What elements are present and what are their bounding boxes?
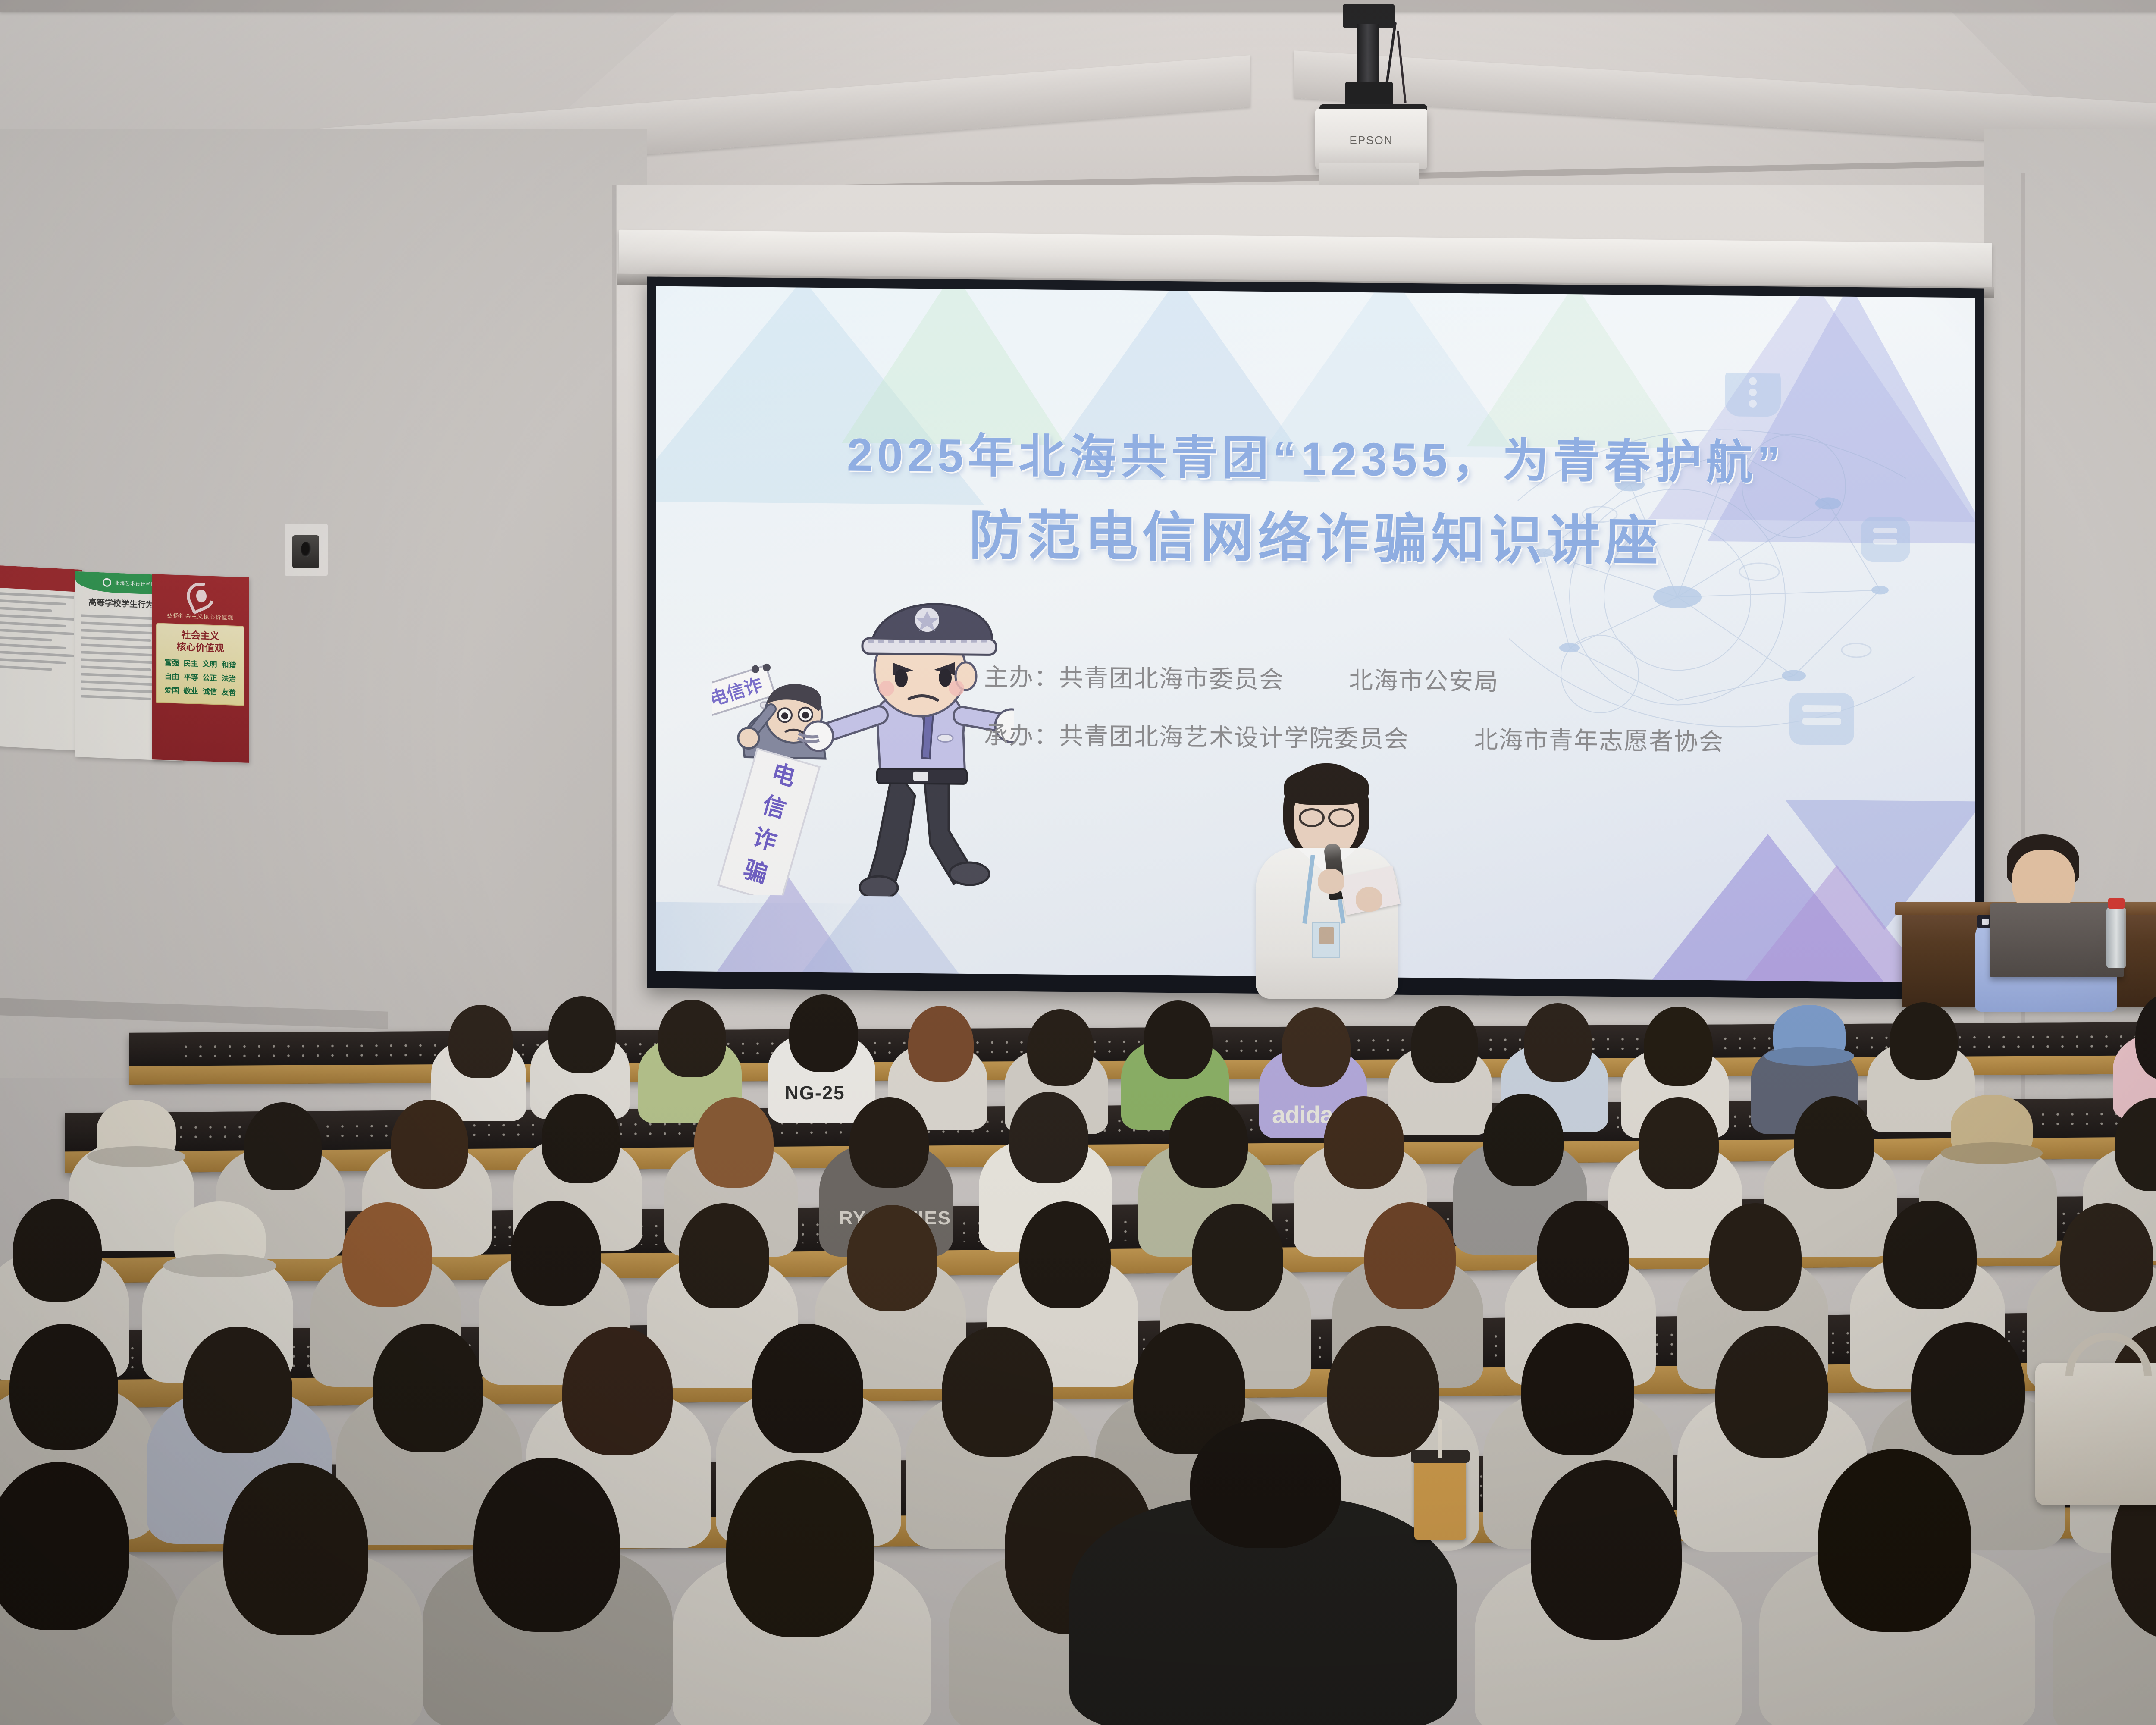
audience-head bbox=[1644, 1007, 1713, 1086]
white-cap bbox=[174, 1201, 266, 1270]
audience-head bbox=[1709, 1203, 1802, 1311]
speaker-fringe bbox=[1284, 768, 1369, 805]
poster-header bbox=[0, 565, 82, 592]
ceiling-projector: EPSON bbox=[1324, 4, 1427, 194]
audience-head bbox=[1890, 1002, 1958, 1080]
audience-head bbox=[658, 1000, 726, 1077]
audience-head bbox=[1639, 1097, 1719, 1189]
audience-head bbox=[942, 1327, 1053, 1457]
audience-head bbox=[1537, 1201, 1629, 1308]
poster-student-notice bbox=[0, 565, 82, 751]
audience-head bbox=[548, 996, 616, 1073]
ceiling-edge-beam bbox=[0, 0, 2156, 12]
organizer-partner: 北海市青年志愿者协会 bbox=[1474, 720, 1724, 757]
audience-head bbox=[1524, 1003, 1592, 1082]
core-values-plaque: 社会主义 核心价值观 富强 民主 文明 和谐 自由 平等 公正 法治 爱国 敬业… bbox=[156, 623, 244, 706]
audience-head bbox=[1192, 1204, 1283, 1311]
audience-head bbox=[562, 1327, 673, 1455]
audience-head bbox=[244, 1102, 322, 1190]
audience-head bbox=[1144, 1000, 1213, 1079]
audience-head bbox=[1009, 1092, 1088, 1183]
school-name-text: 北海艺术设计学院 bbox=[115, 580, 156, 588]
speaker-glasses-icon bbox=[1299, 808, 1354, 823]
plaque-title-line2: 核心价值观 bbox=[176, 641, 224, 654]
core-values-row: 自由 平等 公正 法治 bbox=[159, 670, 242, 684]
audience-head bbox=[542, 1094, 620, 1183]
speaker-hand-left bbox=[1318, 869, 1344, 894]
organizer-label: 承办：共青团北海艺术设计学院委员会 bbox=[984, 716, 1409, 755]
audience-head bbox=[1883, 1201, 1977, 1309]
lecture-hall-photo: EPSON 北海艺术设计学院 高等学校学生行为准则 弘扬社会主义核心价值观 bbox=[0, 0, 2156, 1725]
audience-head bbox=[847, 1205, 937, 1311]
projector-brand-label: EPSON bbox=[1315, 134, 1427, 147]
audience-head bbox=[473, 1458, 620, 1632]
plaque-title-line1: 社会主义 bbox=[181, 629, 219, 641]
audience-head bbox=[726, 1460, 874, 1637]
organizer-label: 主办：共青团北海市委员会 bbox=[984, 658, 1284, 695]
audience-head bbox=[849, 1097, 929, 1188]
audience-head bbox=[2060, 1203, 2153, 1312]
audience-head bbox=[1327, 1326, 1439, 1457]
audience-head bbox=[1364, 1202, 1456, 1309]
poster-core-values: 弘扬社会主义核心价值观 社会主义 核心价值观 富强 民主 文明 和谐 自由 平等… bbox=[152, 574, 249, 763]
blue-cap bbox=[1773, 1005, 1846, 1060]
core-values-subtitle: 弘扬社会主义核心价值观 bbox=[152, 610, 249, 622]
audience-head bbox=[789, 994, 858, 1072]
poster-body-lines bbox=[0, 587, 82, 681]
audience-head bbox=[1483, 1094, 1564, 1186]
slide-title-line-1: 2025年北海共青团“12355，为青春护航” bbox=[656, 416, 1975, 495]
audience-head bbox=[1169, 1096, 1248, 1188]
coffee-cup bbox=[1414, 1458, 1466, 1540]
audience-head bbox=[511, 1201, 601, 1306]
slide-title-line-2: 防范电信网络诈骗知识讲座 bbox=[656, 489, 1975, 578]
audience-head bbox=[1324, 1096, 1404, 1189]
audience-head bbox=[183, 1327, 292, 1453]
audience-head bbox=[1190, 1419, 1341, 1548]
school-logo-icon bbox=[103, 578, 111, 587]
audience-head bbox=[1531, 1460, 1682, 1640]
audience-head bbox=[13, 1199, 102, 1302]
audience-head bbox=[342, 1202, 432, 1307]
audience-head bbox=[373, 1324, 483, 1452]
white-tshirt-text: NG-25 bbox=[785, 1082, 845, 1104]
audience-head bbox=[1282, 1007, 1351, 1087]
handbag bbox=[2035, 1363, 2156, 1505]
audience-head bbox=[391, 1100, 468, 1189]
beige-cap bbox=[97, 1100, 176, 1161]
speaker-hand-right bbox=[1356, 887, 1382, 912]
core-values-row: 爱国 敬业 诚信 友善 bbox=[159, 684, 242, 698]
organizer-partner: 北海市公安局 bbox=[1349, 661, 1499, 697]
audience: NG-25 adidas bbox=[0, 940, 2156, 1725]
audience-head bbox=[1019, 1201, 1111, 1308]
slide-police-mascot-illustration: 电信诈 bbox=[712, 584, 1014, 897]
audience-head bbox=[9, 1324, 118, 1450]
security-camera-left bbox=[285, 524, 328, 576]
audience-head bbox=[752, 1324, 863, 1453]
audience-head bbox=[1411, 1006, 1478, 1083]
core-values-row: 富强 民主 文明 和谐 bbox=[159, 656, 242, 670]
projector-pole bbox=[1357, 24, 1379, 89]
audience-head bbox=[1794, 1096, 1874, 1189]
audience-head bbox=[679, 1203, 769, 1308]
audience-head bbox=[1911, 1322, 2025, 1455]
audience-head bbox=[694, 1097, 774, 1188]
audience-head bbox=[1818, 1449, 1971, 1632]
audience-head bbox=[1715, 1326, 1828, 1458]
audience-head bbox=[908, 1006, 974, 1082]
projector-cable-secondary bbox=[1397, 30, 1407, 103]
tan-cap bbox=[1951, 1095, 2033, 1157]
bottle-cap bbox=[2108, 898, 2125, 909]
youth-league-emblem-icon bbox=[187, 582, 214, 611]
audience-head bbox=[448, 1005, 513, 1078]
audience-head bbox=[223, 1463, 368, 1635]
audience-head bbox=[1027, 1009, 1094, 1086]
audience-head bbox=[1521, 1323, 1634, 1455]
camera-lens-icon bbox=[301, 542, 311, 557]
